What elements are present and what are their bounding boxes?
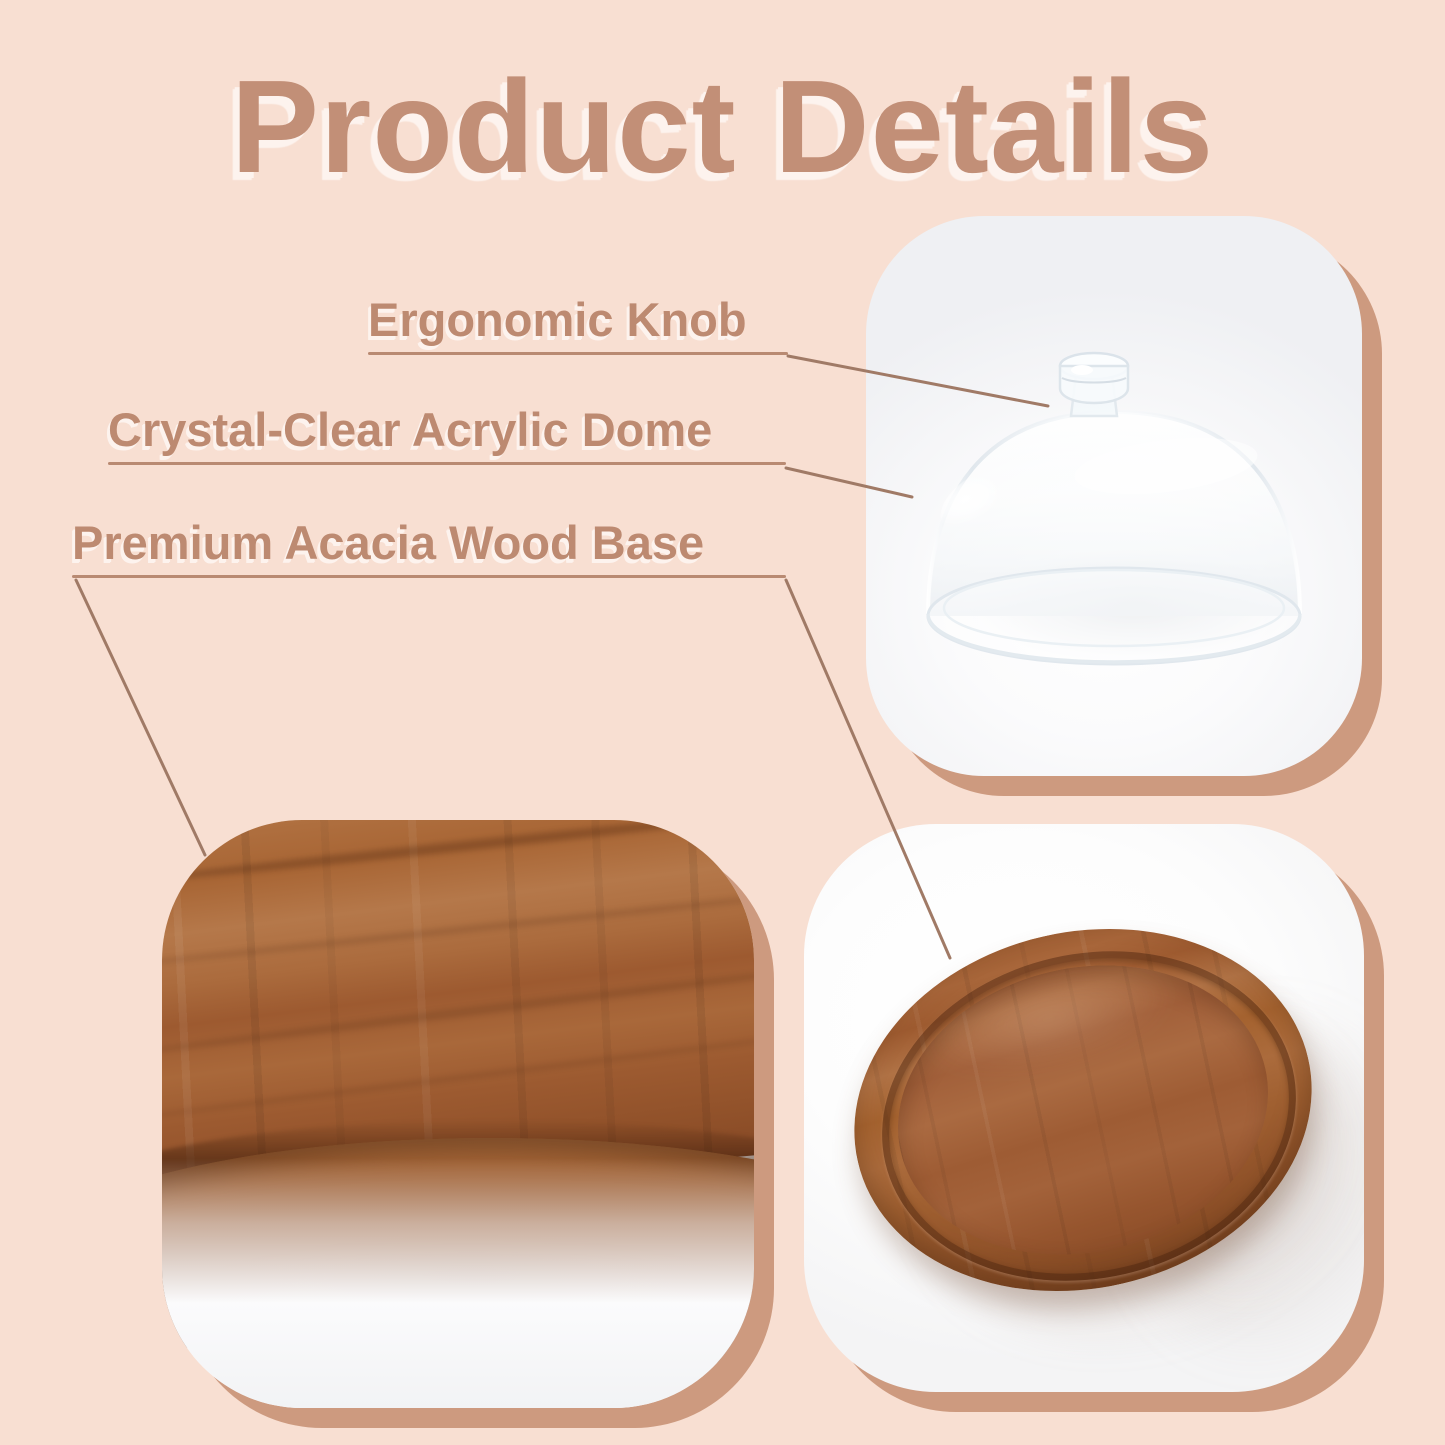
wood-plate-illustration (804, 824, 1364, 1392)
callout-underline-crystal-clear-acrylic-dome (108, 462, 786, 465)
acrylic-dome-photo-panel (866, 216, 1362, 776)
callout-ergonomic-knob: Ergonomic Knob (368, 296, 788, 355)
callout-label-premium-acacia-wood-base: Premium Acacia Wood Base (72, 519, 786, 566)
acacia-wood-plate-photo-panel (804, 824, 1364, 1392)
wood-backdrop-surface (162, 1158, 754, 1408)
callout-crystal-clear-acrylic-dome: Crystal-Clear Acrylic Dome (108, 406, 786, 465)
acrylic-dome-illustration (866, 216, 1362, 776)
dome-knob-highlight (1071, 365, 1093, 375)
product-details-infographic: Product Details (0, 0, 1445, 1445)
page-title: Product Details (0, 58, 1445, 197)
wood-macro-illustration (162, 820, 754, 1408)
callout-underline-ergonomic-knob (368, 352, 788, 355)
callout-premium-acacia-wood-base: Premium Acacia Wood Base (72, 519, 786, 578)
dome-knob-cap (1060, 366, 1128, 403)
callout-label-crystal-clear-acrylic-dome: Crystal-Clear Acrylic Dome (108, 406, 786, 453)
acacia-wood-macro-photo-panel (162, 820, 754, 1408)
callout-label-ergonomic-knob: Ergonomic Knob (368, 296, 788, 343)
callout-underline-premium-acacia-wood-base (72, 575, 786, 578)
leader-line-base-left (76, 580, 205, 855)
